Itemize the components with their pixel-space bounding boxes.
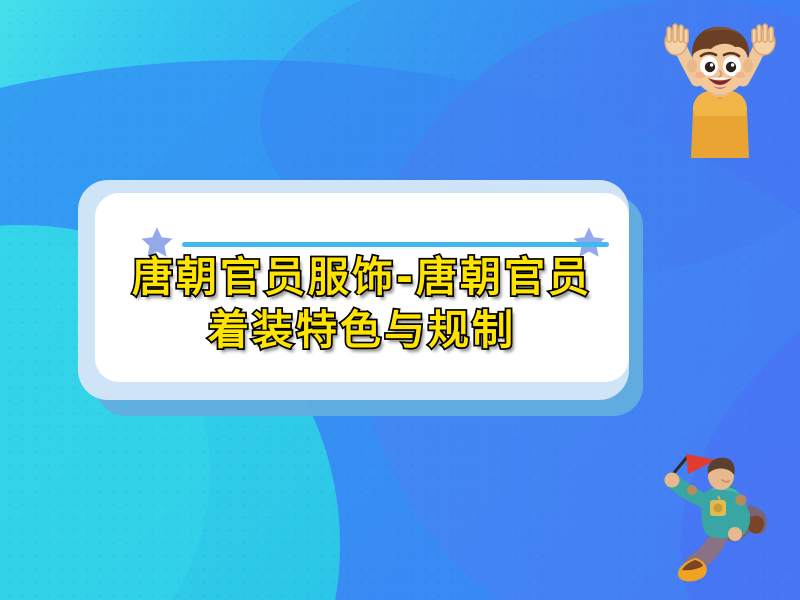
title-divider-rule [182, 242, 609, 247]
slide-canvas: 唐朝官员服饰-唐朝官员着装特色与规制 [0, 0, 800, 600]
title-card: 唐朝官员服饰-唐朝官员着装特色与规制 [78, 180, 643, 416]
cheering-boy-illustration [645, 18, 795, 158]
card-frame: 唐朝官员服饰-唐朝官员着装特色与规制 [78, 180, 629, 400]
page-title: 唐朝官员服饰-唐朝官员着装特色与规制 [117, 251, 607, 357]
card-inner-surface: 唐朝官员服饰-唐朝官员着装特色与规制 [95, 193, 629, 382]
running-person-with-flag-illustration [640, 440, 800, 600]
